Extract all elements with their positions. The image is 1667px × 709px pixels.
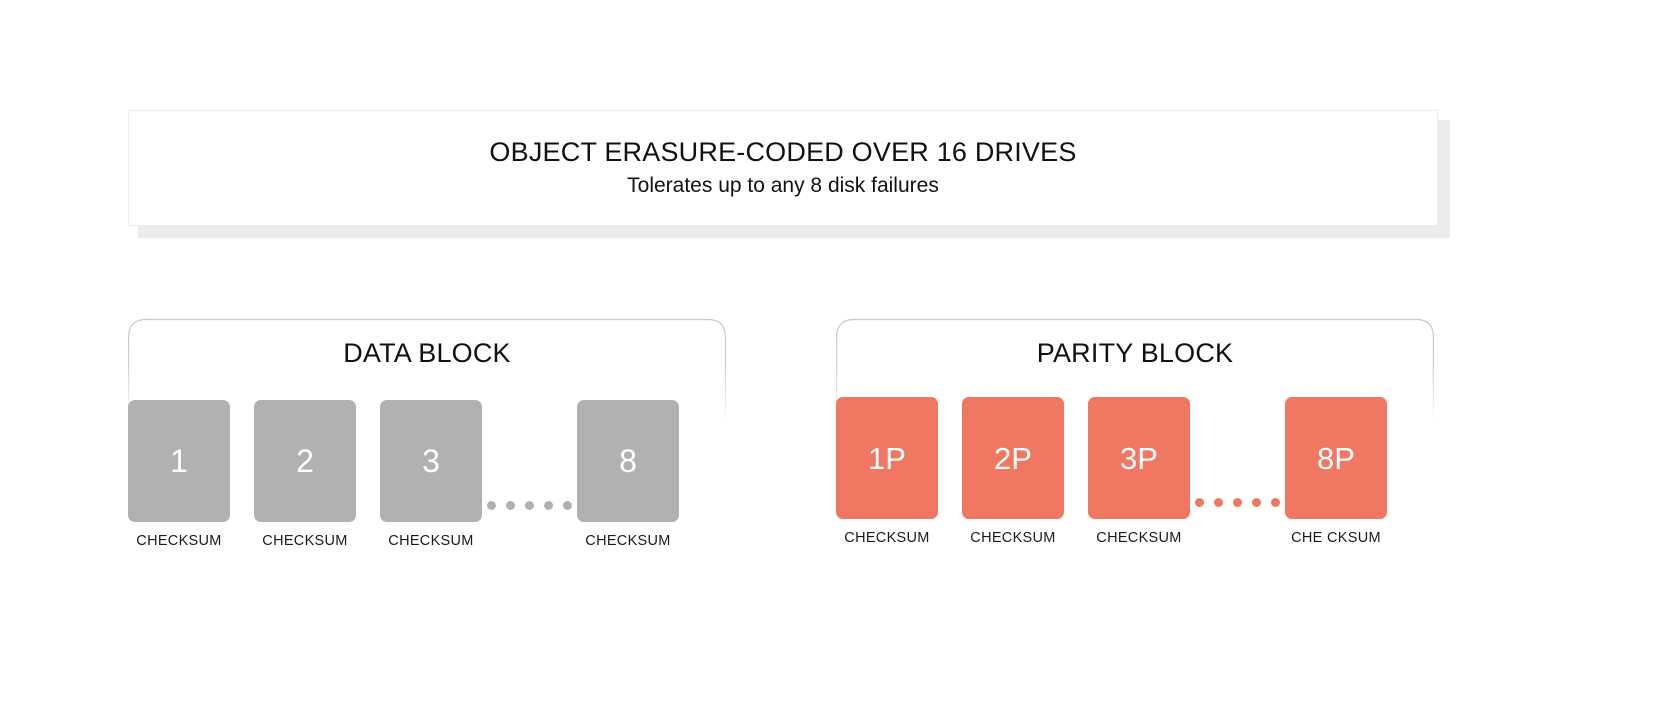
ellipsis-dot [1214, 498, 1223, 507]
ellipsis-dot [1195, 498, 1204, 507]
data-block-2[interactable]: 2 [254, 400, 356, 522]
data-block-cell-8[interactable]: 8 CHECKSUM [577, 400, 679, 549]
ellipsis-dot [544, 501, 553, 510]
banner-card: OBJECT ERASURE-CODED OVER 16 DRIVES Tole… [128, 110, 1438, 226]
banner-subtitle: Tolerates up to any 8 disk failures [627, 172, 939, 199]
parity-block-checksum-1: CHECKSUM [844, 530, 929, 546]
ellipsis-dot [563, 501, 572, 510]
ellipsis-dot [1271, 498, 1280, 507]
data-block-checksum-3: CHECKSUM [388, 533, 473, 549]
data-block-group: DATA BLOCK 1 CHECKSUM 2 CHECKSUM 3 CHECK… [128, 305, 726, 635]
parity-block-3p[interactable]: 3P [1088, 397, 1190, 519]
erasure-coding-diagram: { "banner": { "title": "OBJECT ERASURE-C… [0, 0, 1667, 709]
parity-block-checksum-3: CHECKSUM [1096, 530, 1181, 546]
ellipsis-dot [1252, 498, 1261, 507]
parity-block-checksum-8: CHE CKSUM [1291, 530, 1381, 546]
data-block-cell-2[interactable]: 2 CHECKSUM [254, 400, 356, 549]
parity-blocks-row: 1P CHECKSUM 2P CHECKSUM 3P CHECKSUM 8P C… [836, 397, 1434, 546]
data-block-checksum-8: CHECKSUM [585, 533, 670, 549]
header-banner: OBJECT ERASURE-CODED OVER 16 DRIVES Tole… [128, 110, 1440, 228]
data-block-cell-1[interactable]: 1 CHECKSUM [128, 400, 230, 549]
parity-block-group: PARITY BLOCK 1P CHECKSUM 2P CHECKSUM 3P … [836, 305, 1434, 635]
parity-block-1p[interactable]: 1P [836, 397, 938, 519]
parity-block-ellipsis [1190, 397, 1285, 519]
parity-block-cell-8[interactable]: 8P CHE CKSUM [1285, 397, 1387, 546]
data-blocks-row: 1 CHECKSUM 2 CHECKSUM 3 CHECKSUM 8 CHECK… [128, 400, 726, 549]
parity-block-8p[interactable]: 8P [1285, 397, 1387, 519]
parity-block-cell-2[interactable]: 2P CHECKSUM [962, 397, 1064, 546]
data-block-cell-3[interactable]: 3 CHECKSUM [380, 400, 482, 549]
ellipsis-dot [487, 501, 496, 510]
data-block-1[interactable]: 1 [128, 400, 230, 522]
ellipsis-dot [1233, 498, 1242, 507]
data-block-8[interactable]: 8 [577, 400, 679, 522]
data-block-checksum-2: CHECKSUM [262, 533, 347, 549]
parity-block-cell-3[interactable]: 3P CHECKSUM [1088, 397, 1190, 546]
ellipsis-dot [506, 501, 515, 510]
data-block-title: DATA BLOCK [128, 338, 726, 369]
ellipsis-dot [525, 501, 534, 510]
parity-block-title: PARITY BLOCK [836, 338, 1434, 369]
parity-block-cell-1[interactable]: 1P CHECKSUM [836, 397, 938, 546]
banner-title: OBJECT ERASURE-CODED OVER 16 DRIVES [489, 137, 1076, 168]
data-block-checksum-1: CHECKSUM [136, 533, 221, 549]
data-block-3[interactable]: 3 [380, 400, 482, 522]
data-block-ellipsis [482, 400, 577, 522]
parity-block-2p[interactable]: 2P [962, 397, 1064, 519]
parity-block-checksum-2: CHECKSUM [970, 530, 1055, 546]
